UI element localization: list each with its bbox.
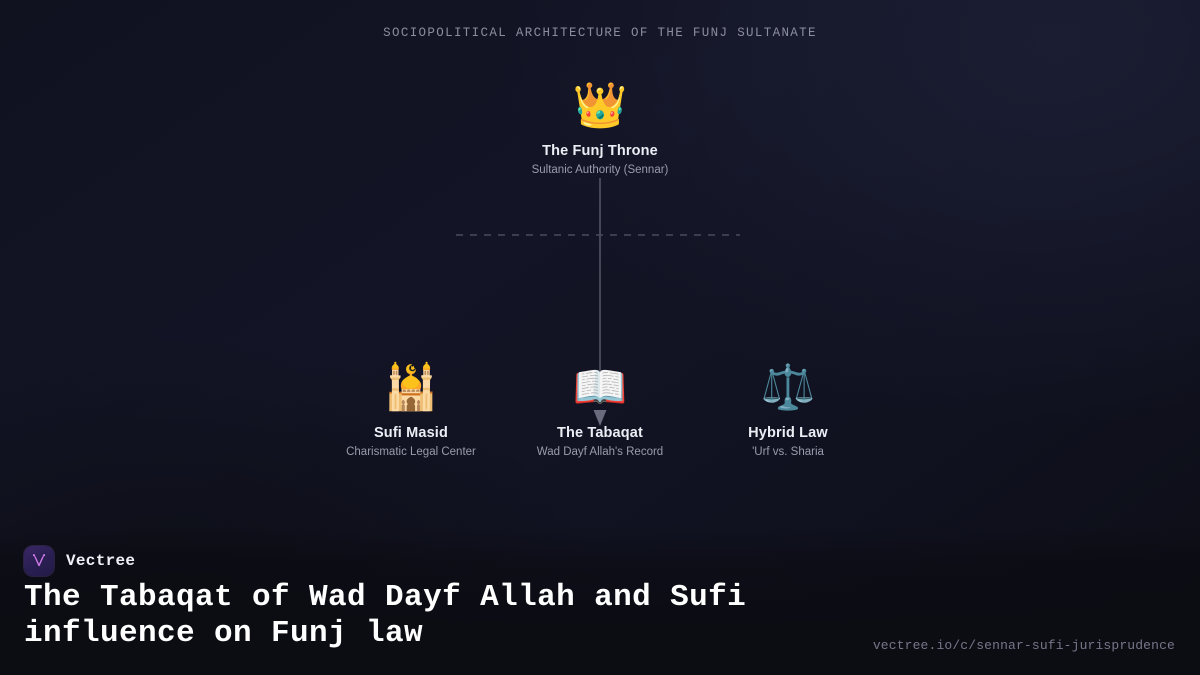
page-url: vectree.io/c/sennar-sufi-jurisprudence: [873, 638, 1175, 653]
vectree-glyph: [30, 552, 48, 570]
node-subtitle: Sultanic Authority (Sennar): [480, 163, 720, 177]
crown-icon: 👑: [480, 80, 720, 132]
node-subtitle: 'Urf vs. Sharia: [668, 445, 908, 459]
brand-lockup[interactable]: Vectree: [24, 546, 135, 576]
balance-scale-icon: ⚖️: [668, 362, 908, 414]
vectree-logo-icon: [24, 546, 54, 576]
page-headline: The Tabaqat of Wad Dayf Allah and Sufi i…: [24, 580, 874, 652]
infographic-canvas: SOCIOPOLITICAL ARCHITECTURE OF THE FUNJ …: [0, 0, 1200, 675]
node-hybrid-law[interactable]: ⚖️ Hybrid Law 'Urf vs. Sharia: [668, 362, 908, 459]
node-title: The Funj Throne: [480, 143, 720, 160]
node-title: Hybrid Law: [668, 425, 908, 442]
brand-name: Vectree: [66, 552, 135, 570]
node-the-funj-throne[interactable]: 👑 The Funj Throne Sultanic Authority (Se…: [480, 80, 720, 177]
